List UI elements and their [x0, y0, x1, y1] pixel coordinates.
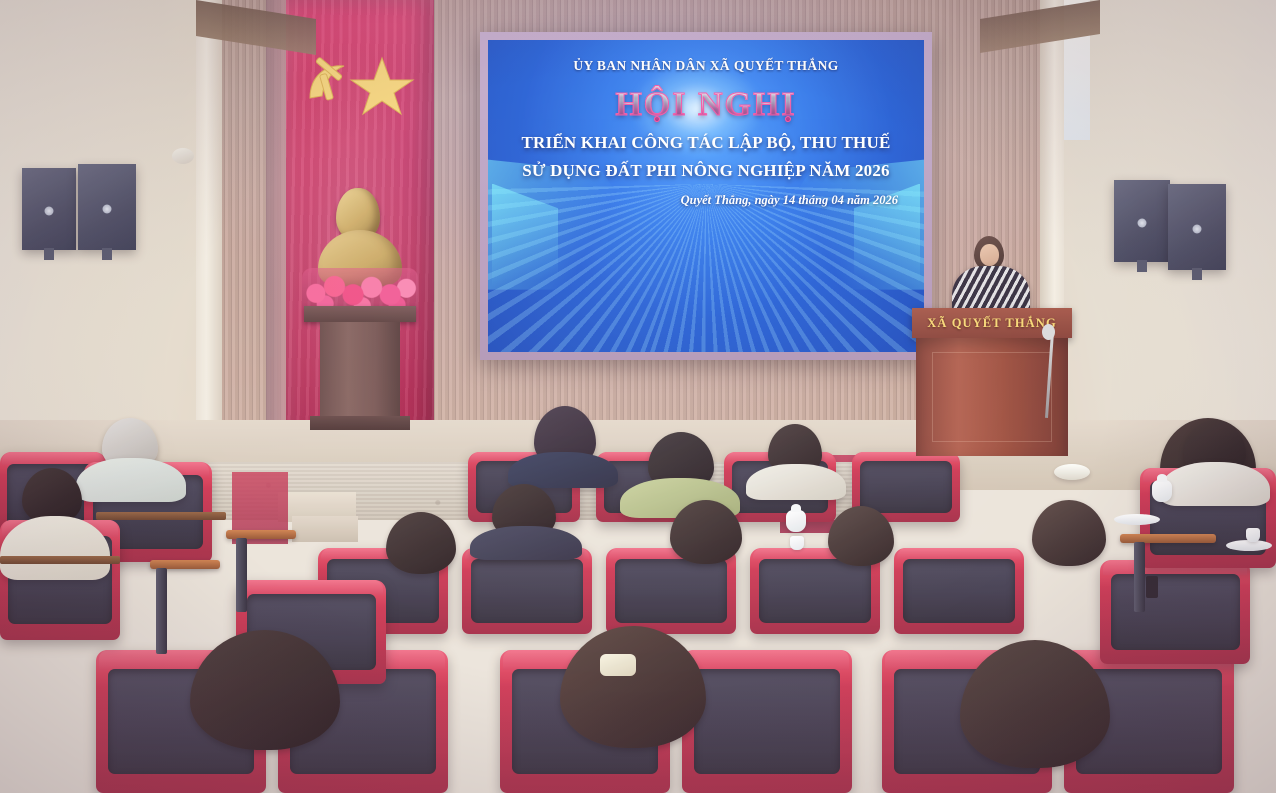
speaker-cone-icon	[103, 204, 112, 213]
pedestal	[320, 322, 400, 422]
speaker-face	[980, 244, 999, 266]
speaker-mount	[1192, 268, 1202, 280]
hair-clip	[600, 654, 636, 676]
led-screen: ỦY BAN NHÂN DÂN XÃ QUYẾT THẮNG HỘI NGHỊ …	[488, 40, 924, 352]
conical-hat	[1054, 464, 1090, 480]
seat	[462, 548, 592, 634]
teapot	[786, 510, 806, 532]
cup	[1246, 528, 1260, 542]
speaker-cone-icon	[1138, 218, 1147, 227]
saucer	[1114, 514, 1160, 525]
left-column	[196, 0, 222, 470]
seat-top-bar	[685, 650, 848, 670]
armrest-post	[236, 538, 247, 612]
writing-desk	[0, 556, 120, 564]
armrest-post	[1134, 542, 1145, 612]
speaker-mount	[44, 248, 54, 260]
armrest-post	[156, 568, 167, 654]
seat	[682, 650, 852, 793]
microphone-icon	[1042, 324, 1055, 340]
memorial-bust-group	[296, 188, 424, 433]
screen-subtitle-line-1: TRIỂN KHAI CÔNG TÁC LẬP BỘ, THU THUẾ	[502, 133, 910, 153]
podium-body	[916, 338, 1068, 456]
seat	[894, 548, 1024, 634]
seat-pad	[903, 559, 1015, 623]
attendee-head	[386, 512, 456, 574]
wall-speaker-left-2	[78, 164, 136, 250]
speaker-cone-icon	[45, 206, 54, 215]
hammer-sickle-star-emblem	[300, 50, 422, 116]
stage-step-lower	[292, 516, 358, 542]
attendee-shoulders	[0, 516, 110, 580]
writing-desk	[96, 512, 226, 520]
screen-date-line: Quyết Thắng, ngày 14 tháng 04 năm 2026	[502, 193, 910, 208]
conference-hall-photo: ỦY BAN NHÂN DÂN XÃ QUYẾT THẮNG HỘI NGHỊ …	[0, 0, 1276, 793]
seat-pad	[1111, 574, 1240, 651]
wall-speaker-right-1	[1114, 180, 1170, 262]
pedestal-top	[304, 306, 416, 322]
seat-pad	[860, 461, 953, 513]
speaker-cone-icon	[1193, 224, 1202, 233]
led-screen-frame: ỦY BAN NHÂN DÂN XÃ QUYẾT THẮNG HỘI NGHỊ …	[480, 32, 932, 360]
attendee-shoulders	[746, 464, 846, 500]
flag-panel-edge	[266, 0, 288, 440]
seat-pad	[471, 559, 583, 623]
wall-fan	[172, 148, 194, 164]
attendee-shoulders	[76, 458, 186, 502]
pedestal-base	[310, 416, 410, 430]
speaker-mount	[1137, 260, 1147, 272]
attendee-shoulders	[508, 452, 618, 488]
wall-speaker-left-1	[22, 168, 76, 250]
teapot	[1152, 480, 1172, 502]
screen-headline: HỘI NGHỊ	[502, 86, 910, 124]
podium-group: XÃ QUYẾT THẮNG	[930, 236, 1070, 466]
attendee-head	[1032, 500, 1106, 566]
seat-pad	[694, 669, 840, 775]
seat-pad	[759, 559, 871, 623]
wall-speaker-right-2	[1168, 184, 1226, 270]
cup	[790, 536, 804, 550]
screen-organization-line: ỦY BAN NHÂN DÂN XÃ QUYẾT THẮNG	[502, 58, 910, 74]
speaker-mount	[102, 248, 112, 260]
seat	[1100, 560, 1250, 664]
seat-pad	[615, 559, 727, 623]
mobile-phone	[1146, 576, 1158, 598]
attendee-shoulders	[1160, 462, 1270, 506]
attendee-shoulders	[470, 526, 582, 560]
screen-subtitle-line-2: SỬ DỤNG ĐẤT PHI NÔNG NGHIỆP NĂM 2026	[502, 161, 910, 181]
seat-top-bar	[239, 580, 383, 595]
attendee-head	[560, 626, 706, 748]
led-screen-text-block: ỦY BAN NHÂN DÂN XÃ QUYẾT THẮNG HỘI NGHỊ …	[488, 40, 924, 208]
